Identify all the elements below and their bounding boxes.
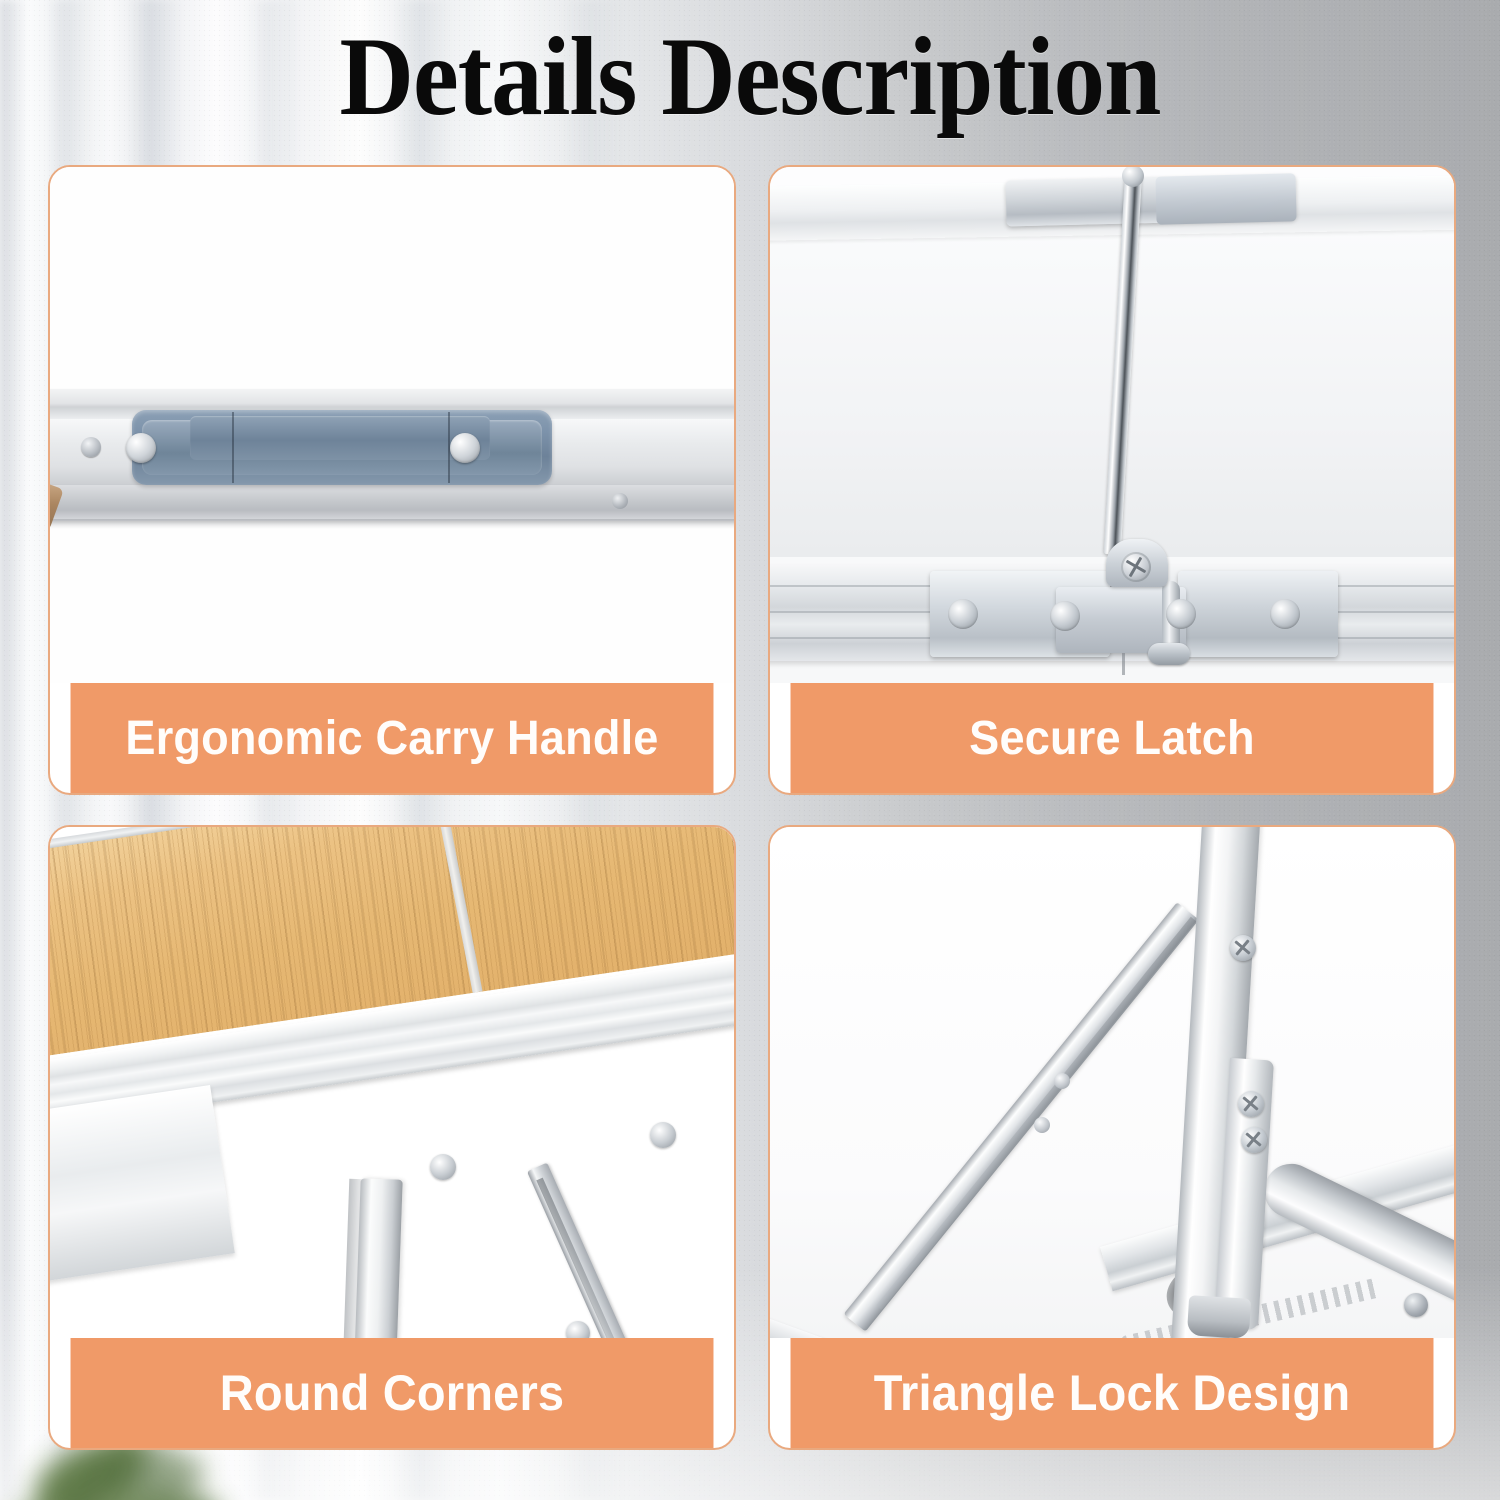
product-photo-round-corners xyxy=(50,827,734,1338)
frame-screw-icon xyxy=(1404,1293,1428,1317)
leg-screw-3-icon xyxy=(1241,1127,1267,1153)
card-caption-triangle-lock-design: Triangle Lock Design xyxy=(791,1338,1434,1448)
feature-card-round-corners[interactable]: Round Corners xyxy=(48,825,736,1450)
trim-screw-2-icon xyxy=(650,1122,676,1148)
feature-card-ergonomic-carry-handle[interactable]: Ergonomic Carry Handle xyxy=(48,165,736,795)
feature-card-grid: Ergonomic Carry Handle xyxy=(48,165,1456,1450)
brace-screw-upper-icon xyxy=(1054,1073,1070,1089)
feature-card-secure-latch[interactable]: Secure Latch xyxy=(768,165,1456,795)
latch-screw-2-icon xyxy=(1050,601,1080,631)
rail-screw-icon xyxy=(81,437,101,457)
leg-screw-2-icon xyxy=(1238,1091,1264,1117)
product-photo-secure-latch xyxy=(770,167,1454,683)
latch-plate-right xyxy=(1178,571,1338,657)
latch-screw-4-icon xyxy=(1270,599,1300,629)
brace-screw-lower-icon xyxy=(1034,1117,1050,1133)
product-photo-triangle-lock xyxy=(770,827,1454,1338)
rail-screw-far-icon xyxy=(612,493,628,509)
feature-card-triangle-lock-design[interactable]: Triangle Lock Design xyxy=(768,825,1456,1450)
latch-screw-1-icon xyxy=(948,599,978,629)
handle-screw-left-icon xyxy=(126,433,156,463)
handle-screw-right-icon xyxy=(450,433,480,463)
latch-screw-3-icon xyxy=(1166,599,1196,629)
product-photo-carry-handle xyxy=(50,167,734,683)
leg-screw-1-icon xyxy=(1230,935,1256,961)
trim-screw-1-icon xyxy=(430,1154,456,1180)
table-leg-part xyxy=(351,1178,402,1338)
brace-pivot-icon xyxy=(566,1321,590,1338)
page-title: Details Description xyxy=(60,18,1440,137)
latch-pivot-screw-icon xyxy=(1121,552,1151,582)
card-caption-round-corners: Round Corners xyxy=(71,1338,714,1448)
card-caption-secure-latch: Secure Latch xyxy=(791,683,1434,793)
infographic-canvas: Details Description xyxy=(0,0,1500,1500)
card-caption-ergonomic-carry-handle: Ergonomic Carry Handle xyxy=(71,683,714,793)
carry-handle-part xyxy=(132,410,552,485)
